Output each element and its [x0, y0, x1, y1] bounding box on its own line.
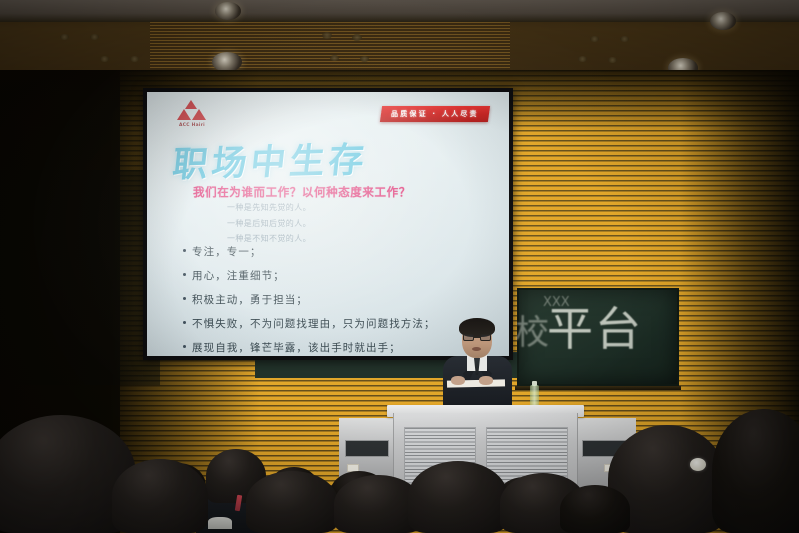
bullet-dot-icon [183, 321, 186, 324]
slide-subline: 一种是后知后觉的人。 [227, 218, 311, 229]
slide-bullet-text: 专注，专一； [192, 244, 262, 259]
slide-subline: 一种是先知先觉的人。 [227, 202, 311, 213]
bullet-dot-icon [183, 345, 186, 348]
ceiling-vent [578, 56, 587, 62]
ceiling-vent [330, 55, 339, 61]
slide-banner: 品质保证 · 人人尽责 [380, 106, 490, 122]
ceiling-vent [100, 56, 109, 62]
audience [0, 373, 799, 533]
projection-screen: ACC Hairi 品质保证 · 人人尽责 职场中生存 我们在为谁而工作？以何种… [147, 92, 509, 356]
hair-clip [690, 458, 706, 471]
ceiling-vent [322, 32, 332, 39]
ceiling-slat-panel [150, 22, 510, 72]
eyeglasses-icon [463, 334, 491, 341]
slide-bullet-item: 用心，注重细节； [183, 268, 436, 283]
bullet-dot-icon [183, 297, 186, 300]
presentation-slide: ACC Hairi 品质保证 · 人人尽责 职场中生存 我们在为谁而工作？以何种… [147, 92, 509, 356]
pyramid-icon-left [177, 109, 191, 120]
blackboard: XXX 校 平台 [517, 288, 679, 386]
audience-head [560, 485, 630, 533]
ceiling-vent [352, 34, 362, 41]
company-logo: ACC Hairi [171, 100, 213, 134]
pyramid-icon-top [185, 100, 197, 109]
slide-bullet-list: 专注，专一； 用心，注重细节； 积极主动，勇于担当； 不惧失败，不为问题找理由，… [183, 244, 436, 355]
slide-bullet-item: 专注，专一； [183, 244, 436, 259]
slide-bullet-item: 展现自我，锋芒毕露，该出手时就出手； [183, 340, 436, 355]
audience-head [112, 459, 208, 533]
slide-bullet-item: 积极主动，勇于担当； [183, 292, 436, 307]
lecture-hall-photo: XXX 校 平台 ACC Hairi 品质保证 · 人人尽责 [0, 0, 799, 533]
presenter-mouth [472, 347, 481, 351]
company-logo-subtext: ACC Hairi [171, 123, 213, 128]
slide-bullet-text: 用心，注重细节； [192, 268, 285, 283]
slide-bullet-text: 积极主动，勇于担当； [192, 292, 308, 307]
ceiling-plaster-band [0, 0, 799, 22]
slide-title: 职场中生存 [170, 131, 370, 187]
slide-bullet-text: 不惧失败，不为问题找理由，只为问题找方法； [192, 316, 436, 331]
ceiling [0, 0, 799, 72]
eyeglass-lens-right [480, 334, 491, 341]
audience-head [246, 471, 338, 533]
bullet-dot-icon [183, 249, 186, 252]
ceiling-vent [590, 36, 599, 42]
slide-subline: 一种是不知不觉的人。 [227, 233, 311, 244]
ceiling-vent [130, 56, 139, 62]
chalk-main-text: 平台 [547, 306, 643, 352]
ceiling-vent [60, 34, 69, 40]
slide-bullet-item: 不惧失败，不为问题找理由，只为问题找方法； [183, 316, 436, 331]
ceiling-downlight [212, 52, 242, 72]
ceiling-vent [620, 36, 629, 42]
ceiling-vent [90, 34, 99, 40]
pyramid-icon [177, 100, 207, 122]
pyramid-icon-right [192, 109, 206, 120]
slide-bullet-text: 展现自我，锋芒毕露，该出手时就出手； [192, 340, 401, 355]
bullet-dot-icon [183, 273, 186, 276]
audience-head [712, 409, 799, 533]
slide-question: 我们在为谁而工作？以何种态度来工作？ [193, 184, 411, 200]
audience-collar [208, 517, 232, 529]
ceiling-downlight [215, 2, 241, 20]
slide-banner-text: 品质保证 · 人人尽责 [391, 109, 479, 119]
eyeglass-lens-left [463, 334, 474, 341]
audience-head [408, 461, 508, 533]
ceiling-vent [608, 57, 617, 63]
slide-sublines: 一种是先知先觉的人。 一种是后知后觉的人。 一种是不知不觉的人。 [227, 202, 311, 244]
ceiling-vent [360, 56, 369, 62]
ceiling-downlight [710, 12, 736, 30]
